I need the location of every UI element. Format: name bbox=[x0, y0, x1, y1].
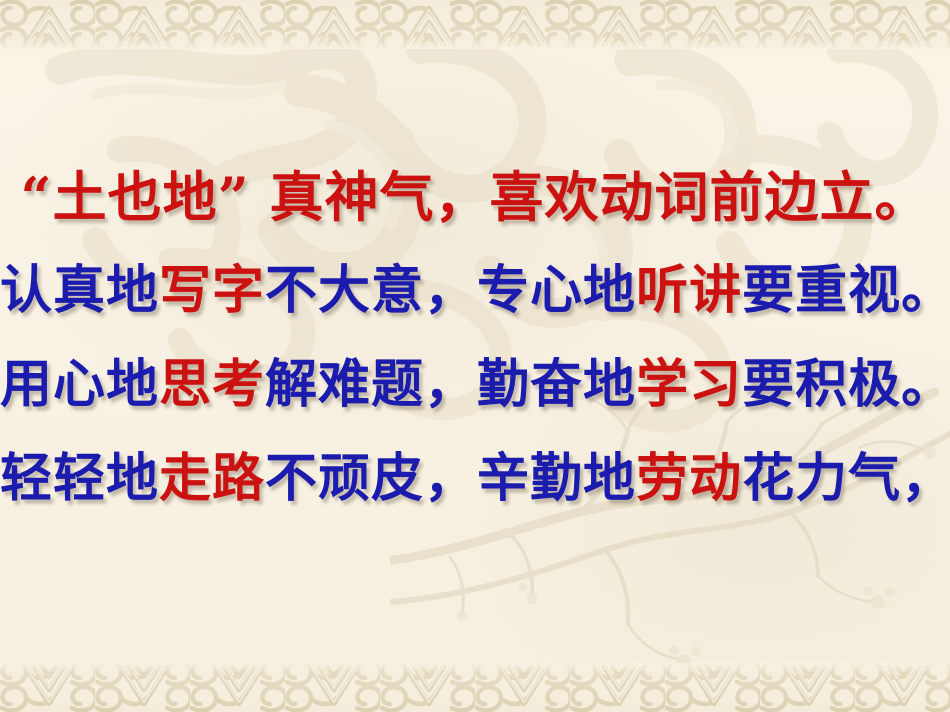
verse-line-3-seg-6: 要积极。 bbox=[742, 354, 950, 415]
verse-line-4-seg-2: 走路 bbox=[159, 448, 265, 509]
verse-line-4-seg-3: 不顽皮， bbox=[265, 448, 477, 509]
verse-line-3-seg-4: 勤奋地 bbox=[477, 354, 636, 415]
verse-line-3: 用心地思考解难题，勤奋地学习要积极。 bbox=[0, 338, 950, 432]
verse-line-4-seg-1: 轻轻地 bbox=[0, 448, 159, 509]
verse-text-block: “土也地” 真神气，喜欢动词前边立。 认真地写字不大意，专心地听讲要重视。 用心… bbox=[0, 150, 950, 526]
verse-line-2-seg-1: 认真地 bbox=[0, 260, 159, 321]
verse-line-2-seg-6: 要重视。 bbox=[742, 260, 950, 321]
verse-line-2-seg-2: 写字 bbox=[159, 260, 265, 321]
verse-line-1: “土也地” 真神气，喜欢动词前边立。 bbox=[0, 150, 950, 244]
verse-line-4: 轻轻地走路不顽皮，辛勤地劳动花力气， bbox=[0, 432, 950, 526]
verse-line-3-seg-2: 思考 bbox=[159, 354, 265, 415]
verse-line-2-seg-3: 不大意， bbox=[265, 260, 477, 321]
verse-line-2-seg-4: 专心地 bbox=[477, 260, 636, 321]
verse-line-4-seg-6: 花力气， bbox=[742, 448, 950, 509]
verse-line-4-seg-5: 劳动 bbox=[636, 448, 742, 509]
verse-line-3-seg-5: 学习 bbox=[636, 354, 742, 415]
verse-line-1-seg-1: “土也地” bbox=[21, 165, 270, 229]
verse-line-2: 认真地写字不大意，专心地听讲要重视。 bbox=[0, 244, 950, 338]
verse-line-2-seg-5: 听讲 bbox=[636, 260, 742, 321]
verse-line-1-seg-2: 真神气，喜欢动词前边立。 bbox=[269, 165, 929, 229]
verse-line-4-seg-4: 辛勤地 bbox=[477, 448, 636, 509]
verse-line-3-seg-3: 解难题， bbox=[265, 354, 477, 415]
verse-line-3-seg-1: 用心地 bbox=[0, 354, 159, 415]
presentation-slide: “土也地” 真神气，喜欢动词前边立。 认真地写字不大意，专心地听讲要重视。 用心… bbox=[0, 0, 950, 712]
